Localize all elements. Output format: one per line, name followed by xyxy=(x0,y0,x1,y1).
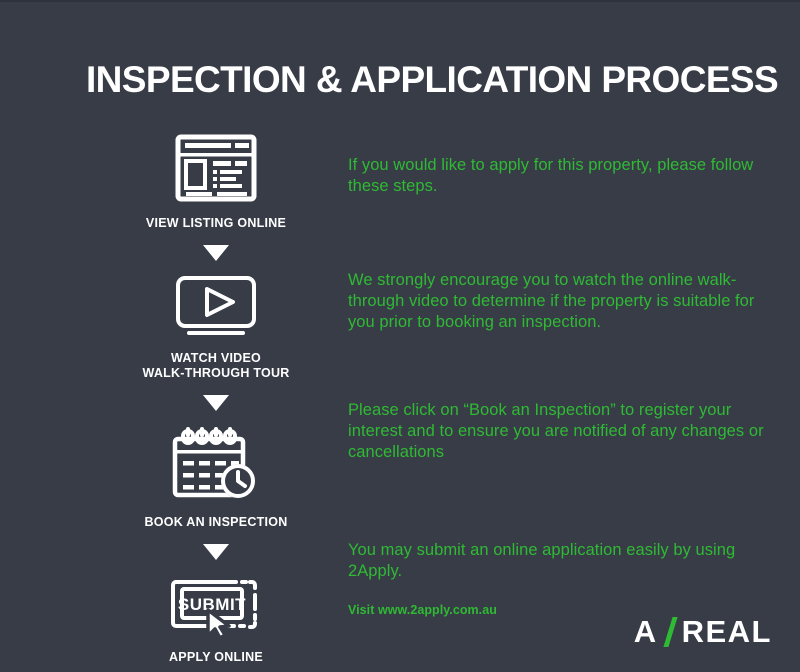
submit-button-cursor-icon: SUBMIT xyxy=(168,574,264,641)
arrow-down-icon xyxy=(203,245,229,261)
copy-text: Please click on “Book an Inspection” to … xyxy=(348,400,768,463)
green-slash-icon xyxy=(659,617,681,647)
arrow-down-3 xyxy=(120,544,312,560)
calendar-clock-icon xyxy=(172,425,260,506)
arrow-down-icon xyxy=(203,544,229,560)
arrow-down-icon xyxy=(203,395,229,411)
process-steps-column: VIEW LISTING ONLINE WATCH VIDEO WALK-THR… xyxy=(120,134,312,665)
poster-canvas: INSPECTION & APPLICATION PROCESS xyxy=(0,0,800,672)
copy-block-2: We strongly encourage you to watch the o… xyxy=(348,270,768,333)
brand-logo: A REAL xyxy=(634,614,772,650)
step-watch-video[interactable]: WATCH VIDEO WALK-THROUGH TOUR xyxy=(120,275,312,381)
step-book-inspection[interactable]: BOOK AN INSPECTION xyxy=(120,425,312,530)
copy-text: You may submit an online application eas… xyxy=(348,540,768,582)
copy-block-1: If you would like to apply for this prop… xyxy=(348,155,768,197)
copy-text: If you would like to apply for this prop… xyxy=(348,155,768,197)
arrow-down-1 xyxy=(120,245,312,261)
step-label: BOOK AN INSPECTION xyxy=(145,515,288,530)
step-apply-online[interactable]: SUBMIT APPLY ONLINE xyxy=(120,574,312,665)
logo-word-real: REAL xyxy=(682,614,772,650)
copy-text: We strongly encourage you to watch the o… xyxy=(348,270,768,333)
step-view-listing-online[interactable]: VIEW LISTING ONLINE xyxy=(120,134,312,231)
video-monitor-play-icon xyxy=(175,275,257,342)
arrow-down-2 xyxy=(120,395,312,411)
copy-block-4: You may submit an online application eas… xyxy=(348,540,768,618)
logo-letter-a: A xyxy=(634,614,658,650)
step-label: APPLY ONLINE xyxy=(169,650,263,665)
copy-block-3: Please click on “Book an Inspection” to … xyxy=(348,400,768,463)
step-label: VIEW LISTING ONLINE xyxy=(146,216,286,231)
step-label: WATCH VIDEO WALK-THROUGH TOUR xyxy=(142,351,289,381)
browser-listing-icon xyxy=(175,134,257,207)
page-title: INSPECTION & APPLICATION PROCESS xyxy=(86,59,778,101)
